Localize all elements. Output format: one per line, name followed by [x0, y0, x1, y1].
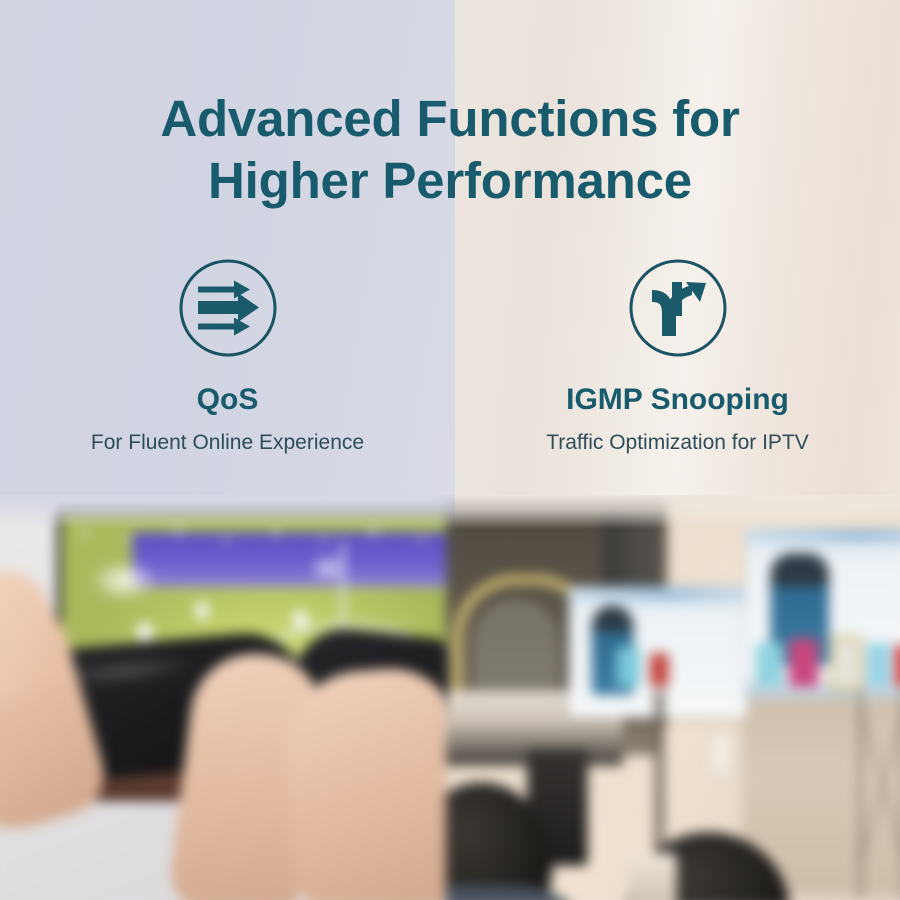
feature-list: QoS For Fluent Online Experience IGMP Sn…: [0, 258, 900, 456]
content-overlay: Advanced Functions for Higher Performanc…: [0, 0, 900, 900]
page-title: Advanced Functions for Higher Performanc…: [0, 88, 900, 212]
feature-igmp-snooping: IGMP Snooping Traffic Optimization for I…: [455, 258, 900, 456]
branching-road-arrows-icon: [628, 258, 728, 358]
promo-graphic: Advanced Functions for Higher Performanc…: [0, 0, 900, 900]
feature-subtitle: For Fluent Online Experience: [0, 430, 455, 456]
feature-subtitle: Traffic Optimization for IPTV: [455, 430, 900, 456]
headline-line-1: Advanced Functions for: [0, 88, 900, 150]
feature-title: IGMP Snooping: [455, 382, 900, 418]
headline-line-2: Higher Performance: [0, 150, 900, 212]
feature-title: QoS: [0, 382, 455, 418]
feature-qos: QoS For Fluent Online Experience: [0, 258, 455, 456]
three-arrows-icon: [178, 258, 278, 358]
